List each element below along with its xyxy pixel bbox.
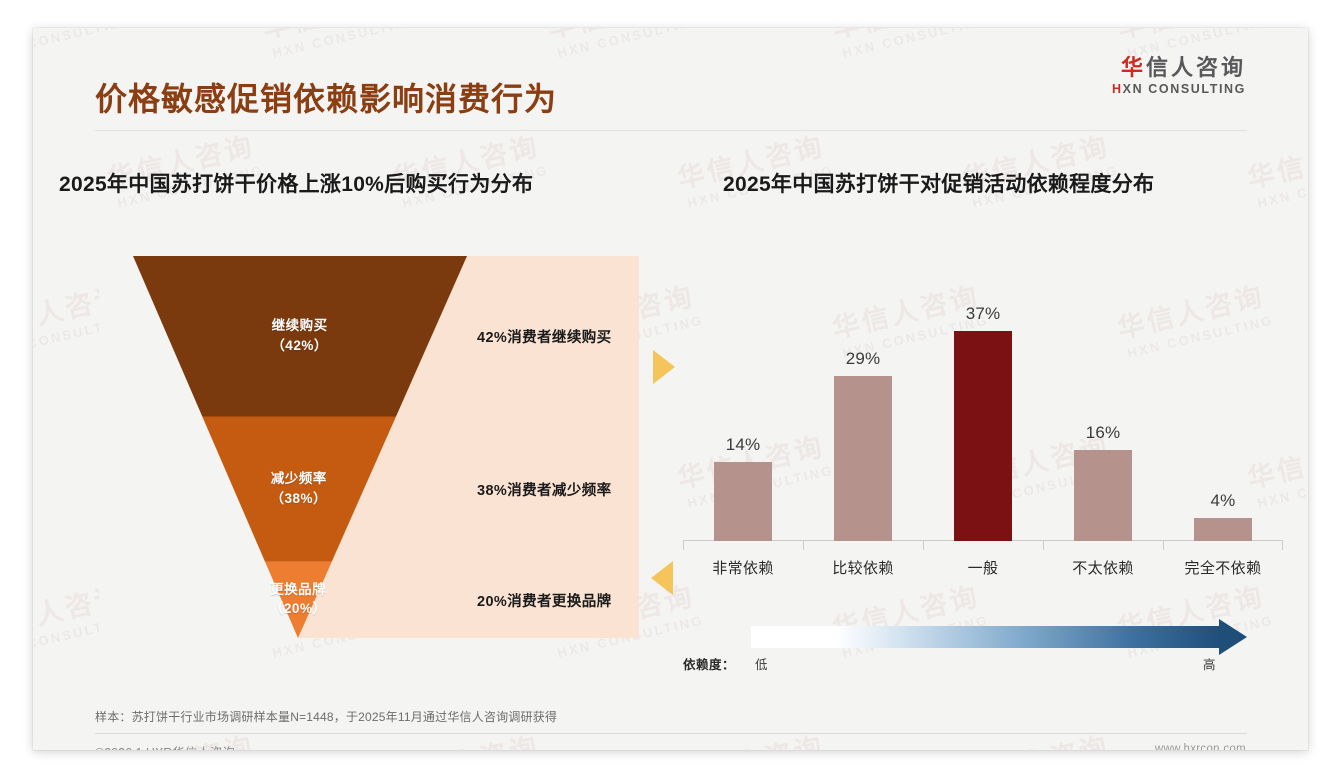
sample-note: 样本：苏打饼干行业市场调研样本量N=1448，于2025年11月通过华信人咨询调…	[95, 708, 557, 725]
watermark: 华信人咨询HXN CONSULTING	[673, 723, 835, 750]
axis-tick	[1282, 541, 1283, 550]
bar-category-label: 完全不依赖	[1168, 557, 1278, 578]
gradient-bar	[751, 626, 1221, 648]
logo-en-rest: XN CONSULTING	[1123, 82, 1246, 96]
bar-column[interactable]: 29%	[834, 349, 892, 541]
bar-rect[interactable]	[714, 462, 772, 541]
logo-h-char: H	[1112, 82, 1123, 96]
axis-tick	[803, 541, 804, 550]
bar-rect[interactable]	[1074, 450, 1132, 541]
bar-value-label: 14%	[726, 435, 761, 455]
bar-category-label: 比较依赖	[808, 557, 918, 578]
watermark: 华信人咨询HXN CONSULTING	[1243, 123, 1308, 211]
bar-category-label: 不太依赖	[1048, 557, 1158, 578]
bar-chart: 14%非常依赖29%比较依赖37%一般16%不太依赖4%完全不依赖	[683, 268, 1283, 588]
bar-rect[interactable]	[954, 331, 1012, 541]
connector-arrow-left	[651, 561, 673, 595]
axis-tick	[683, 541, 684, 550]
funnel-chart: 继续购买（42%）42%消费者继续购买减少频率（38%）38%消费者减少频率更换…	[99, 256, 639, 638]
bar-value-label: 37%	[966, 304, 1001, 324]
watermark: 华信人咨询HXN CONSULTING	[958, 723, 1120, 750]
bar-column[interactable]: 14%	[714, 435, 772, 541]
axis-tick	[1163, 541, 1164, 550]
copyright-text: ©2026.1 HXR华信人咨询	[95, 742, 235, 750]
right-chart-title: 2025年中国苏打饼干对促销活动依赖程度分布	[723, 168, 1154, 198]
bar-category-label: 一般	[928, 557, 1038, 578]
bar-rect[interactable]	[834, 376, 892, 541]
connector-arrow-right	[653, 350, 675, 384]
logo-chinese: 华信人咨询	[1112, 55, 1246, 80]
header-divider	[95, 130, 1247, 131]
bar-column[interactable]: 37%	[954, 304, 1012, 541]
footer-divider	[95, 733, 1247, 734]
bar-rect[interactable]	[1194, 518, 1252, 541]
bar-column[interactable]: 16%	[1074, 423, 1132, 541]
dependency-gradient-legend: 依赖度： 低 高	[683, 626, 1283, 678]
axis-tick	[923, 541, 924, 550]
website-url: www.hxrcon.com	[1155, 743, 1246, 750]
bar-column[interactable]: 4%	[1194, 491, 1252, 541]
bar-value-label: 4%	[1211, 491, 1236, 511]
legend-low-label: 低	[755, 654, 768, 673]
legend-high-label: 高	[1203, 654, 1216, 673]
bar-value-label: 16%	[1086, 423, 1121, 443]
page-title: 价格敏感促销依赖影响消费行为	[95, 83, 557, 115]
funnel-annotation: 38%消费者减少频率	[477, 479, 612, 500]
watermark: 华信人咨询HXN CONSULTING	[388, 723, 550, 750]
slide-canvas: 华信人咨询HXN CONSULTING华信人咨询HXN CONSULTING华信…	[33, 28, 1308, 750]
funnel-annotation: 42%消费者继续购买	[477, 326, 612, 347]
logo-cn-rest: 信人咨询	[1146, 55, 1246, 80]
logo-english: HXN CONSULTING	[1112, 82, 1246, 96]
axis-tick	[1043, 541, 1044, 550]
watermark: 华信人咨询HXN CONSULTING	[1243, 723, 1308, 750]
bar-value-label: 29%	[846, 349, 881, 369]
legend-label: 依赖度：	[683, 654, 735, 673]
gradient-arrow-head-icon	[1219, 619, 1247, 655]
company-logo: 华信人咨询 HXN CONSULTING	[1112, 55, 1246, 96]
funnel-svg	[99, 256, 639, 638]
bar-category-label: 非常依赖	[688, 557, 798, 578]
left-chart-title: 2025年中国苏打饼干价格上涨10%后购买行为分布	[59, 168, 533, 198]
logo-hua-char: 华	[1121, 55, 1146, 80]
funnel-annotation: 20%消费者更换品牌	[477, 590, 612, 611]
slide-header: 价格敏感促销依赖影响消费行为 华信人咨询 HXN CONSULTING	[33, 28, 1308, 131]
